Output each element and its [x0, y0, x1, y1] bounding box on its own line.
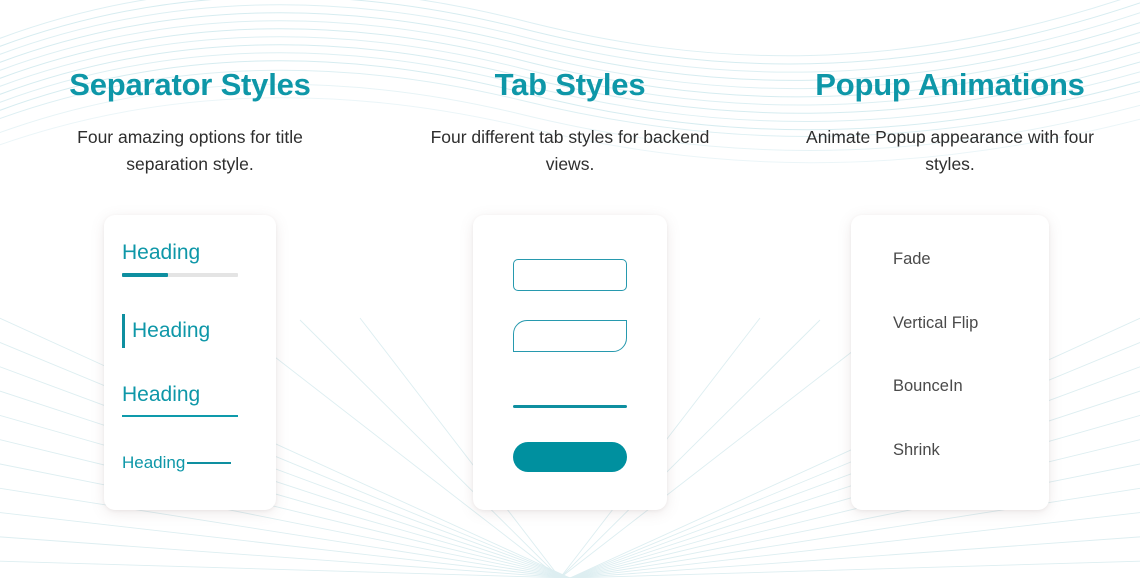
separator-styles-card: Heading Heading Heading Heading [104, 215, 276, 510]
separator-style-underline-partial[interactable]: Heading [122, 241, 258, 277]
popup-animations-card: Fade Vertical Flip BounceIn Shrink [851, 215, 1049, 510]
list-item-vertical-flip[interactable]: Vertical Flip [893, 315, 1049, 332]
tab-styles-card [473, 215, 667, 510]
tab-style-underline[interactable] [513, 405, 627, 408]
separator-rule-partial [122, 273, 238, 277]
separator-heading-label: Heading [122, 453, 185, 473]
separator-style-inline-rule[interactable]: Heading [122, 453, 258, 473]
description-popup-animations: Animate Popup appearance with four style… [800, 124, 1100, 178]
feature-columns: Separator Styles Four amazing options fo… [0, 0, 1140, 578]
separator-heading-label: Heading [122, 241, 258, 266]
separator-heading-label: Heading [122, 383, 258, 408]
separator-style-underline-full[interactable]: Heading [122, 383, 258, 417]
list-item-bouncein[interactable]: BounceIn [893, 378, 1049, 395]
separator-style-left-bar[interactable]: Heading [122, 314, 258, 348]
page-title-separator-styles: Separator Styles [69, 68, 310, 102]
column-popup-animations: Popup Animations Animate Popup appearanc… [760, 0, 1140, 578]
tab-style-filled-pill[interactable] [513, 442, 627, 472]
separator-rule-trailing [187, 462, 231, 464]
list-item-shrink[interactable]: Shrink [893, 442, 1049, 459]
tab-style-diagonal-rounded[interactable] [513, 320, 627, 352]
tab-style-rounded-rect[interactable] [513, 259, 627, 291]
separator-heading-label: Heading [132, 319, 210, 344]
page-title-popup-animations: Popup Animations [815, 68, 1084, 102]
column-tab-styles: Tab Styles Four different tab styles for… [380, 0, 760, 578]
separator-rule-full [122, 415, 238, 417]
list-item-fade[interactable]: Fade [893, 251, 1049, 268]
description-separator-styles: Four amazing options for title separatio… [40, 124, 340, 178]
description-tab-styles: Four different tab styles for backend vi… [420, 124, 720, 178]
page-title-tab-styles: Tab Styles [495, 68, 646, 102]
column-separator-styles: Separator Styles Four amazing options fo… [0, 0, 380, 578]
separator-vertical-bar [122, 314, 125, 348]
